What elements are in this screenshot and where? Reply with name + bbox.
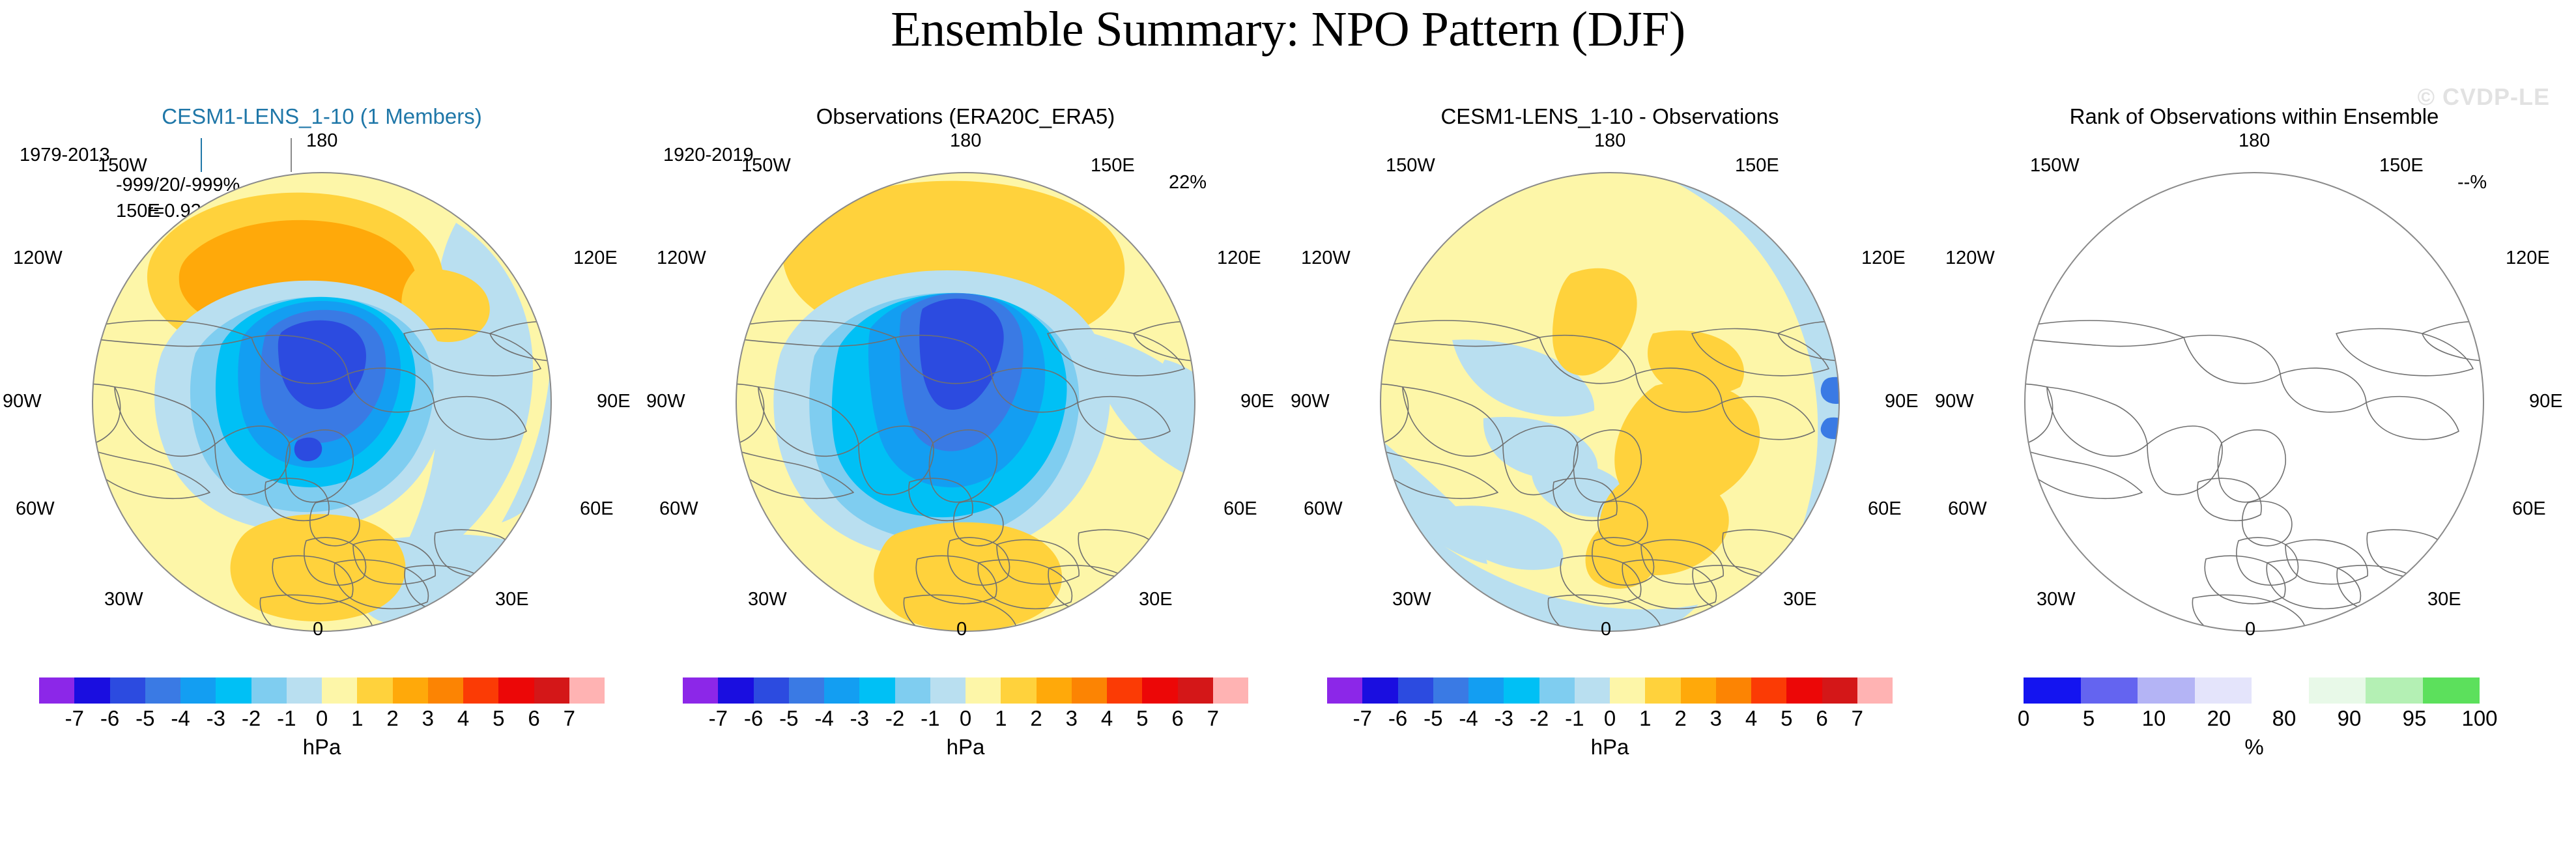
colorbar-tick-label: 4 <box>1745 706 1757 731</box>
lon-label-0: 0 <box>313 619 323 640</box>
colorbar-cell <box>966 677 1001 704</box>
colorbar-tick-label: 2 <box>1030 706 1042 731</box>
lon-label-120e: 120E <box>573 248 618 269</box>
panel-title-observations: Observations (ERA20C_ERA5) <box>644 104 1287 129</box>
colorbar-cell <box>1645 677 1680 704</box>
lon-label-60e: 60E <box>1224 498 1257 520</box>
colorbar-cell <box>2252 677 2309 704</box>
colorbar-tick-label: 10 <box>2142 706 2166 731</box>
colorbar-cell <box>428 677 463 704</box>
colorbar-tick-label: 5 <box>1781 706 1792 731</box>
map-svg-model <box>0 138 644 666</box>
colorbar-units: hPa <box>644 735 1287 760</box>
colorbar-cell <box>74 677 109 704</box>
lon-label-90e: 90E <box>597 391 631 412</box>
colorbar-cell <box>1362 677 1397 704</box>
colorbar-cell <box>1468 677 1504 704</box>
colorbar-cell <box>1178 677 1213 704</box>
colorbar-cell <box>1504 677 1539 704</box>
colorbar-rank[interactable]: 0 051020809095100 % <box>1932 677 2576 808</box>
colorbar-cell <box>2024 677 2081 704</box>
colorbar-tick-label: 5 <box>1136 706 1148 731</box>
map-svg-rank <box>1932 138 2576 666</box>
lon-label-0: 0 <box>2245 619 2255 640</box>
colorbar-tick-label: 95 <box>2403 706 2427 731</box>
colorbar-cell <box>895 677 930 704</box>
colorbar-tick-label: -3 <box>850 706 869 731</box>
colorbar-cell <box>322 677 357 704</box>
colorbar-tick-label: -6 <box>744 706 763 731</box>
panel-model[interactable]: CESM1-LENS_1-10 (1 Members) 1979-2013 -9… <box>0 104 644 841</box>
colorbar-ticklabels: 051020809095100 <box>2024 706 2480 732</box>
lon-label-60w: 60W <box>1304 498 1343 520</box>
colorbar-cell <box>859 677 894 704</box>
colorbar-cell <box>2309 677 2366 704</box>
lon-label-30w: 30W <box>104 589 143 610</box>
lon-label-30w: 30W <box>2037 589 2076 610</box>
lon-label-30e: 30E <box>2427 589 2461 610</box>
lon-label-30e: 30E <box>495 589 529 610</box>
colorbar-cell <box>1398 677 1433 704</box>
colorbar-cell <box>683 677 718 704</box>
colorbar-tick-label: 3 <box>422 706 434 731</box>
colorbar-cell <box>393 677 428 704</box>
colorbar-tick-label: 0 <box>2018 706 2029 731</box>
lon-label-180: 180 <box>306 130 337 152</box>
panel-title-difference: CESM1-LENS_1-10 - Observations <box>1288 104 1932 129</box>
colorbar-cell <box>251 677 287 704</box>
colorbar-tick-label: 3 <box>1066 706 1078 731</box>
colorbar-cell <box>110 677 145 704</box>
lon-label-30w: 30W <box>748 589 787 610</box>
colorbar-cell <box>1716 677 1751 704</box>
lon-label-60e: 60E <box>580 498 614 520</box>
colorbar-tick-label: -3 <box>207 706 225 731</box>
colorbar-units: hPa <box>0 735 644 760</box>
colorbar-cell <box>1822 677 1857 704</box>
colorbar-tick-label: -1 <box>1565 706 1584 731</box>
lon-label-150w: 150W <box>98 155 147 177</box>
lon-label-120e: 120E <box>1861 248 1906 269</box>
colorbar-cell <box>824 677 859 704</box>
colorbar-cell <box>1072 677 1107 704</box>
colorbar-tick-label: -7 <box>65 706 84 731</box>
colorbar-tick-label: 0 <box>960 706 971 731</box>
panel-difference[interactable]: CESM1-LENS_1-10 - Observations <box>1288 104 1932 841</box>
colorbar-cell <box>180 677 216 704</box>
colorbar-tick-label: 2 <box>386 706 398 731</box>
colorbar-tick-label: -6 <box>1388 706 1407 731</box>
colorbar-hpa-observations[interactable]: 0 -7-6-5-4-3-2-101234567 hPa <box>644 677 1287 808</box>
colorbar-units: % <box>1932 735 2576 760</box>
colorbar-cell <box>1142 677 1177 704</box>
colorbar-tick-label: 20 <box>2207 706 2231 731</box>
panel-rank[interactable]: Rank of Observations within Ensemble --% <box>1932 104 2576 841</box>
colorbar-tick-label: -7 <box>1353 706 1372 731</box>
lon-label-60w: 60W <box>659 498 698 520</box>
colorbar-cell <box>754 677 789 704</box>
colorbar-tick-label: -5 <box>136 706 154 731</box>
lon-label-120e: 120E <box>2506 248 2550 269</box>
colorbar-tick-label: 7 <box>564 706 575 731</box>
colorbar-cell <box>1213 677 1248 704</box>
colorbar-tick-label: -6 <box>100 706 119 731</box>
colorbar-cell <box>39 677 74 704</box>
lon-label-30e: 30E <box>1139 589 1173 610</box>
colorbar-tick-label: -4 <box>171 706 190 731</box>
page-title: Ensemble Summary: NPO Pattern (DJF) <box>0 1 2576 58</box>
colorbar-tick-label: 5 <box>493 706 504 731</box>
colorbar-tick-label: -3 <box>1495 706 1513 731</box>
colorbar-tick-label: -2 <box>885 706 904 731</box>
map-difference[interactable] <box>1288 138 1932 666</box>
colorbar-strip[interactable] <box>1327 677 1893 704</box>
colorbar-strip[interactable] <box>683 677 1248 704</box>
lon-label-150w: 150W <box>741 155 791 177</box>
colorbar-cell <box>1681 677 1716 704</box>
colorbar-tick-label: 1 <box>995 706 1007 731</box>
colorbar-tick-label: -4 <box>1459 706 1478 731</box>
colorbar-tick-label: 6 <box>528 706 539 731</box>
colorbar-cell <box>2423 677 2480 704</box>
colorbar-cell <box>145 677 180 704</box>
map-observations[interactable] <box>644 138 1287 666</box>
colorbar-tick-label: -5 <box>779 706 798 731</box>
colorbar-tick-label: 5 <box>2083 706 2095 731</box>
lon-label-60w: 60W <box>1948 498 1987 520</box>
colorbar-cell <box>2366 677 2423 704</box>
lon-label-120w: 120W <box>657 248 706 269</box>
map-svg-difference <box>1288 138 1932 666</box>
colorbar-cell <box>1433 677 1468 704</box>
colorbar-tick-label: -4 <box>814 706 833 731</box>
lon-label-90e: 90E <box>1240 391 1274 412</box>
lon-label-90w: 90W <box>3 391 42 412</box>
colorbar-ticklabels: -7-6-5-4-3-2-101234567 <box>1327 706 1893 732</box>
colorbar-cell <box>789 677 824 704</box>
lon-label-150e: 150E <box>2379 155 2424 177</box>
map-svg-observations <box>644 138 1287 666</box>
panel-observations[interactable]: Observations (ERA20C_ERA5) 1920-2019 22% <box>644 104 1287 841</box>
colorbar-tick-label: -7 <box>709 706 728 731</box>
colorbar-cell <box>1610 677 1645 704</box>
colorbar-tick-label: 4 <box>1101 706 1113 731</box>
lon-label-180: 180 <box>1594 130 1625 152</box>
lon-label-120w: 120W <box>13 248 63 269</box>
colorbar-tick-label: 100 <box>2461 706 2497 731</box>
lon-label-150e: 150E <box>1735 155 1779 177</box>
colorbar-cell <box>2195 677 2252 704</box>
colorbar-tick-label: 0 <box>316 706 328 731</box>
lon-label-180: 180 <box>2239 130 2270 152</box>
colorbar-tick-label: 6 <box>1171 706 1183 731</box>
colorbar-cell <box>930 677 966 704</box>
colorbar-strip[interactable] <box>2024 677 2480 704</box>
colorbar-cell <box>1539 677 1575 704</box>
colorbar-tick-label: 0 <box>1604 706 1616 731</box>
lon-label-60w: 60W <box>16 498 55 520</box>
colorbar-cell <box>1037 677 1072 704</box>
colorbar-hpa-difference[interactable]: 0 -7-6-5-4-3-2-101234567 hPa <box>1288 677 1932 808</box>
colorbar-cell <box>718 677 753 704</box>
lon-label-90w: 90W <box>1935 391 1974 412</box>
colorbar-cell <box>2081 677 2138 704</box>
colorbar-cell <box>1751 677 1786 704</box>
lon-label-90e: 90E <box>1885 391 1919 412</box>
colorbar-cell <box>2138 677 2195 704</box>
colorbar-tick-label: -2 <box>242 706 261 731</box>
colorbar-tick-label: 6 <box>1816 706 1827 731</box>
lon-label-120w: 120W <box>1301 248 1351 269</box>
colorbar-cell <box>463 677 498 704</box>
colorbar-cell <box>357 677 392 704</box>
colorbar-tick-label: -2 <box>1530 706 1549 731</box>
colorbar-tick-label: 3 <box>1710 706 1722 731</box>
colorbar-hpa-model[interactable]: 0 -7-6-5-4-3-2-101234567 hPa <box>0 677 644 808</box>
colorbar-cell <box>534 677 569 704</box>
colorbar-cell <box>1575 677 1610 704</box>
colorbar-cell <box>1107 677 1142 704</box>
panel-title-model: CESM1-LENS_1-10 (1 Members) <box>0 104 644 129</box>
colorbar-tick-label: 7 <box>1852 706 1863 731</box>
colorbar-tick-label: -1 <box>277 706 296 731</box>
colorbar-tick-label: 1 <box>351 706 363 731</box>
lon-label-60e: 60E <box>1868 498 1902 520</box>
lon-label-30w: 30W <box>1392 589 1431 610</box>
colorbar-units: hPa <box>1288 735 1932 760</box>
lon-label-120w: 120W <box>1945 248 1995 269</box>
colorbar-tick-label: 7 <box>1207 706 1219 731</box>
lon-label-90w: 90W <box>646 391 685 412</box>
colorbar-cell <box>287 677 322 704</box>
lon-label-30e: 30E <box>1783 589 1817 610</box>
lon-label-180: 180 <box>950 130 981 152</box>
colorbar-cell <box>216 677 251 704</box>
colorbar-tick-label: 1 <box>1639 706 1651 731</box>
colorbar-cell <box>569 677 605 704</box>
lon-label-120e: 120E <box>1217 248 1261 269</box>
colorbar-cell <box>1001 677 1036 704</box>
lon-label-150w: 150W <box>2030 155 2080 177</box>
lon-label-90w: 90W <box>1291 391 1330 412</box>
colorbar-tick-label: -5 <box>1424 706 1442 731</box>
colorbar-ticklabels: -7-6-5-4-3-2-101234567 <box>39 706 605 732</box>
colorbar-cell <box>498 677 534 704</box>
colorbar-tick-label: 4 <box>457 706 469 731</box>
colorbar-tick-label: 80 <box>2272 706 2297 731</box>
colorbar-strip[interactable] <box>39 677 605 704</box>
lon-label-150w: 150W <box>1386 155 1435 177</box>
map-rank[interactable] <box>1932 138 2576 666</box>
colorbar-cell <box>1857 677 1893 704</box>
colorbar-cell <box>1786 677 1822 704</box>
lon-label-150e: 150E <box>1091 155 1135 177</box>
lon-label-0: 0 <box>1601 619 1611 640</box>
lon-label-60e: 60E <box>2512 498 2546 520</box>
colorbar-ticklabels: -7-6-5-4-3-2-101234567 <box>683 706 1248 732</box>
colorbar-tick-label: 90 <box>2338 706 2362 731</box>
colorbar-cell <box>1327 677 1362 704</box>
lon-label-0: 0 <box>956 619 967 640</box>
colorbar-tick-label: 2 <box>1674 706 1686 731</box>
map-model[interactable] <box>0 138 644 666</box>
lon-label-90e: 90E <box>2529 391 2563 412</box>
panel-title-rank: Rank of Observations within Ensemble <box>1932 104 2576 129</box>
colorbar-tick-label: -1 <box>921 706 939 731</box>
